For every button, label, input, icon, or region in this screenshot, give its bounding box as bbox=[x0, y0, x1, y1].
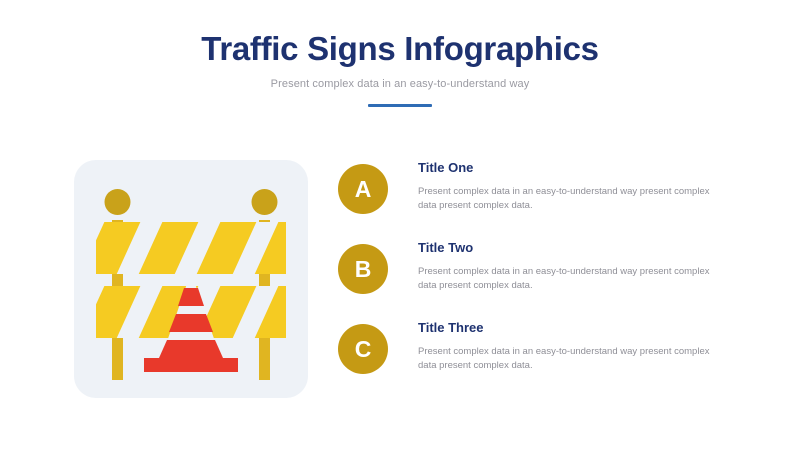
list-item[interactable]: C Title Three Present complex data in an… bbox=[338, 318, 738, 374]
slide-header: Traffic Signs Infographics Present compl… bbox=[0, 30, 800, 107]
item-body: Title Two Present complex data in an eas… bbox=[418, 238, 718, 293]
cone-tier-bottom bbox=[159, 340, 223, 358]
cone-tier-middle bbox=[169, 314, 213, 332]
post-cap-right-icon bbox=[252, 189, 278, 215]
item-title-one: Title One bbox=[418, 160, 718, 176]
item-title-two: Title Two bbox=[418, 240, 718, 256]
item-badge-a: A bbox=[338, 164, 388, 214]
road-barrier-icon bbox=[74, 160, 308, 398]
list-item[interactable]: B Title Two Present complex data in an e… bbox=[338, 238, 738, 294]
list-item[interactable]: A Title One Present complex data in an e… bbox=[338, 158, 738, 214]
item-body: Title Three Present complex data in an e… bbox=[418, 318, 718, 373]
item-badge-b: B bbox=[338, 244, 388, 294]
item-title-three: Title Three bbox=[418, 320, 718, 336]
barrier-bar-upper bbox=[74, 214, 286, 280]
illustration-panel bbox=[74, 160, 308, 398]
item-body: Title One Present complex data in an eas… bbox=[418, 158, 718, 213]
item-description-two: Present complex data in an easy-to-under… bbox=[418, 265, 718, 294]
item-description-one: Present complex data in an easy-to-under… bbox=[418, 185, 718, 214]
slide-canvas: Traffic Signs Infographics Present compl… bbox=[0, 0, 800, 450]
page-title: Traffic Signs Infographics bbox=[0, 30, 800, 68]
page-subtitle: Present complex data in an easy-to-under… bbox=[0, 78, 800, 90]
post-cap-left-icon bbox=[105, 189, 131, 215]
items-list: A Title One Present complex data in an e… bbox=[338, 158, 738, 374]
title-accent-bar bbox=[368, 104, 432, 107]
item-badge-c: C bbox=[338, 324, 388, 374]
cone-base bbox=[144, 358, 238, 372]
item-description-three: Present complex data in an easy-to-under… bbox=[418, 345, 718, 374]
